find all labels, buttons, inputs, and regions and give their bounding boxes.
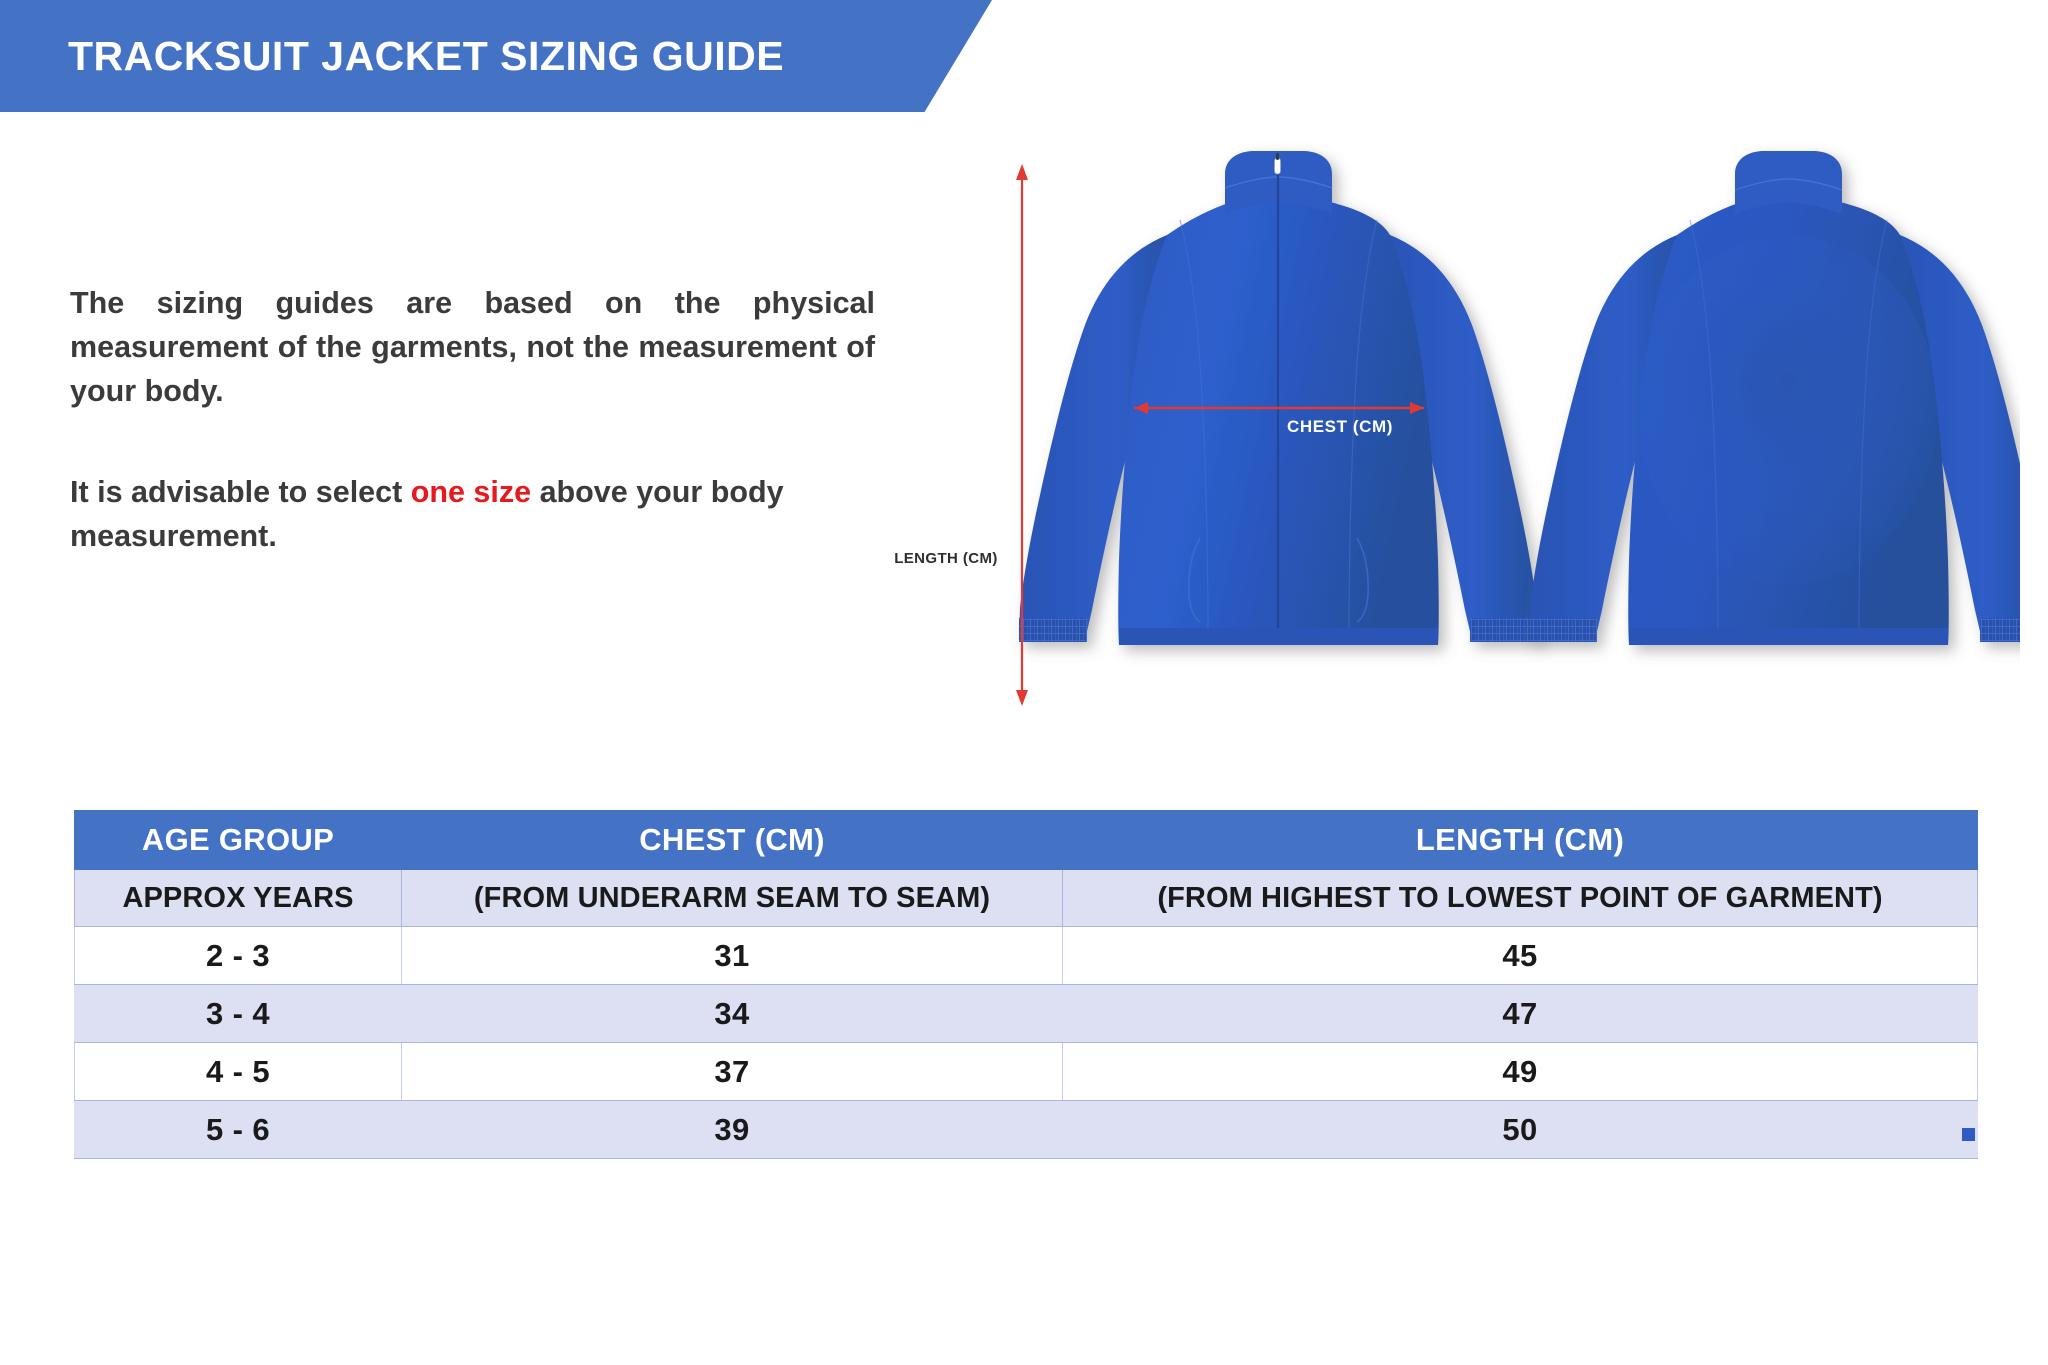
jacket-back-view — [1529, 151, 2020, 645]
cell-length: 45 — [1063, 927, 1978, 985]
cell-chest: 31 — [402, 927, 1063, 985]
length-measure-label: LENGTH (CM) — [880, 550, 1012, 567]
subheader-length-note: (FROM HIGHEST TO LOWEST POINT OF GARMENT… — [1063, 870, 1978, 927]
table-header-main-row: AGE GROUP CHEST (CM) LENGTH (CM) — [75, 811, 1978, 870]
page-title: TRACKSUIT JACKET SIZING GUIDE — [0, 33, 784, 80]
cell-chest: 34 — [402, 985, 1063, 1043]
selection-corner-handle[interactable] — [1962, 1128, 1975, 1141]
intro-paragraph-1: The sizing guides are based on the physi… — [70, 282, 875, 414]
table-row: 5 - 6 39 50 — [75, 1101, 1978, 1159]
header-chest: CHEST (CM) — [402, 811, 1063, 870]
back-body-shading — [1638, 235, 1938, 585]
table-row: 4 - 5 37 49 — [75, 1043, 1978, 1101]
table-row: 3 - 4 34 47 — [75, 985, 1978, 1043]
cell-chest: 39 — [402, 1101, 1063, 1159]
back-left-cuff — [1529, 618, 1597, 642]
cell-chest: 37 — [402, 1043, 1063, 1101]
cell-age: 3 - 4 — [75, 985, 402, 1043]
cell-age: 5 - 6 — [75, 1101, 402, 1159]
header-banner: TRACKSUIT JACKET SIZING GUIDE — [0, 0, 992, 112]
subheader-approx-years: APPROX YEARS — [75, 870, 402, 927]
back-right-cuff — [1980, 618, 2020, 642]
header-age-group: AGE GROUP — [75, 811, 402, 870]
cell-length: 47 — [1063, 985, 1978, 1043]
cell-age: 4 - 5 — [75, 1043, 402, 1101]
back-hem-rib — [1629, 628, 1948, 645]
one-size-highlight: one size — [411, 475, 531, 509]
sizing-table: AGE GROUP CHEST (CM) LENGTH (CM) APPROX … — [74, 810, 1978, 1159]
chest-measure-label: CHEST (CM) — [1140, 417, 1540, 437]
cell-length: 50 — [1063, 1101, 1978, 1159]
cell-length: 49 — [1063, 1043, 1978, 1101]
front-hem-rib — [1119, 628, 1438, 645]
header-length: LENGTH (CM) — [1063, 811, 1978, 870]
jacket-front-view — [1019, 151, 1538, 645]
intro-paragraph-2: It is advisable to select one size above… — [70, 471, 875, 559]
cell-age: 2 - 3 — [75, 927, 402, 985]
table-row: 2 - 3 31 45 — [75, 927, 1978, 985]
front-left-cuff — [1019, 618, 1087, 642]
front-right-cuff — [1470, 618, 1538, 642]
table-header-sub-row: APPROX YEARS (FROM UNDERARM SEAM TO SEAM… — [75, 870, 1978, 927]
jacket-illustration: LENGTH (CM) CHEST (CM) — [880, 140, 2020, 720]
intro-text-block: The sizing guides are based on the physi… — [70, 282, 875, 559]
subheader-chest-note: (FROM UNDERARM SEAM TO SEAM) — [402, 870, 1063, 927]
intro-paragraph-2-lead: It is advisable to select — [70, 475, 411, 509]
